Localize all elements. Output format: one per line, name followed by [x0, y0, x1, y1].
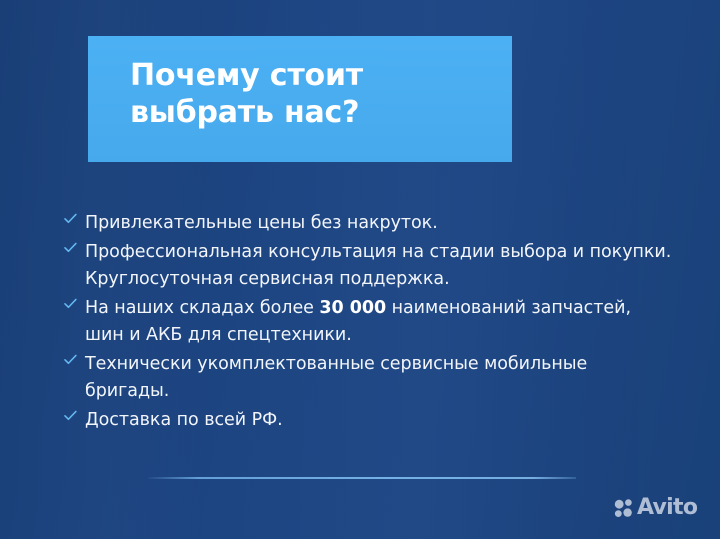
list-item: На наших складах более 30 000 наименован…	[63, 295, 673, 350]
list-item-label: Профессиональная консультация на стадии …	[85, 239, 673, 294]
benefits-list: Привлекательные цены без накруток.Профес…	[63, 210, 673, 435]
list-item: Технически укомплектованные сервисные мо…	[63, 351, 673, 406]
check-icon	[63, 240, 85, 267]
list-item-highlight: 30 000	[319, 298, 386, 318]
check-icon	[63, 408, 85, 435]
divider	[148, 477, 576, 479]
check-icon	[63, 352, 85, 379]
avito-wordmark: Avito	[637, 497, 697, 519]
list-item: Привлекательные цены без накруток.	[63, 210, 673, 238]
title-panel: Почему стоит выбрать нас?	[88, 36, 512, 162]
list-item: Доставка по всей РФ.	[63, 407, 673, 435]
check-icon	[63, 211, 85, 238]
list-item-label: Технически укомплектованные сервисные мо…	[85, 351, 673, 406]
avito-watermark: Avito	[614, 497, 697, 519]
check-icon	[63, 296, 85, 323]
list-item: Профессиональная консультация на стадии …	[63, 239, 673, 294]
slide-canvas: Почему стоит выбрать нас? Привлекательны…	[0, 0, 720, 539]
page-title: Почему стоит выбрать нас?	[130, 57, 363, 131]
list-item-label: На наших складах более 30 000 наименован…	[85, 295, 673, 350]
list-item-label: Привлекательные цены без накруток.	[85, 210, 673, 238]
list-item-label: Доставка по всей РФ.	[85, 407, 673, 435]
avito-logo-icon	[614, 498, 634, 518]
